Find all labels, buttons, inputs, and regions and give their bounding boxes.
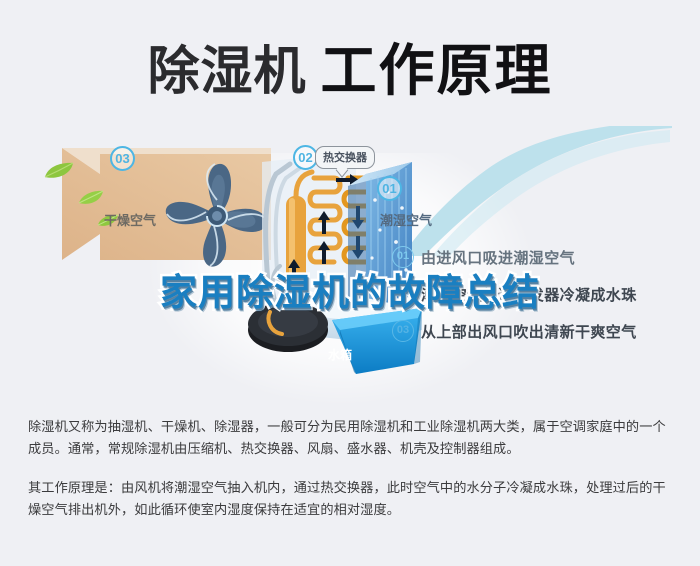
list-item: 03 从上部出风口吹出清新干爽空气	[392, 316, 692, 346]
humid-airflow-swoosh	[402, 126, 672, 256]
title-part-2: 工作原理	[321, 39, 553, 102]
title-part-1: 除湿机	[147, 43, 306, 101]
label-dry-air: 干燥空气	[104, 210, 156, 229]
leaf-icon	[78, 190, 104, 206]
leaf-icon	[44, 162, 74, 180]
label-heat-exchanger: 热交换器	[315, 146, 375, 169]
label-humid-air: 潮湿空气	[380, 210, 432, 229]
paragraph-1: 除湿机又称为抽湿机、干燥机、除湿器，一般可分为民用除湿机和工业除湿机两大类，属于…	[28, 416, 676, 460]
badge-03: 03	[110, 146, 135, 171]
watermark-overlay-text: 家用除湿机的故障总结	[0, 262, 700, 316]
step-number: 03	[392, 320, 414, 342]
paragraph-2: 其工作原理是：由风机将潮湿空气抽入机内，通过热交换器，此时空气中的水分子冷凝成水…	[28, 477, 676, 521]
page-title: 除湿机工作原理	[0, 26, 700, 107]
step-text: 从上部出风口吹出清新干爽空气	[421, 321, 637, 342]
body-copy: 除湿机又称为抽湿机、干燥机、除湿器，一般可分为民用除湿机和工业除湿机两大类，属于…	[28, 416, 676, 521]
page-root: 除湿机工作原理	[0, 0, 700, 566]
label-water-tank: 水箱	[328, 346, 352, 363]
badge-01: 01	[377, 176, 402, 201]
